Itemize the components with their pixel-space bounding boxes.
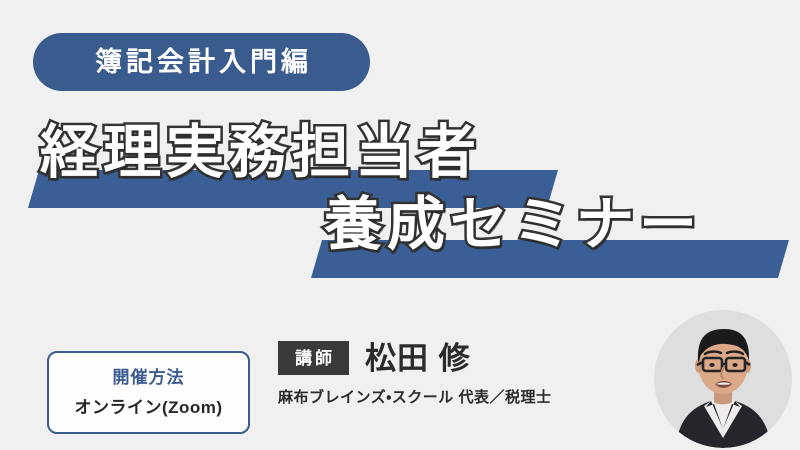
page-title-line-1: 経理実務担当者: [40, 124, 481, 182]
instructor-block: 講師 松田 修 麻布ブレインズ・スクール 代表／税理士: [278, 341, 551, 405]
seminar-banner: 簿記会計入門編 経理実務担当者 養成セミナー 開催方法 オンライン(Zoom) …: [0, 0, 800, 450]
instructor-tag: 講師: [278, 341, 349, 375]
delivery-method-value: オンライン(Zoom): [74, 399, 222, 416]
instructor-affiliation: 麻布ブレインズ・スクール 代表／税理士: [278, 390, 551, 405]
instructor-portrait: [654, 310, 792, 448]
category-badge: 簿記会計入門編: [33, 33, 370, 91]
page-title-line-2: 養成セミナー: [324, 196, 702, 254]
delivery-method-box: 開催方法 オンライン(Zoom): [47, 351, 250, 434]
portrait-illustration: [654, 310, 792, 448]
delivery-method-label: 開催方法: [113, 369, 185, 386]
category-badge-label: 簿記会計入門編: [91, 49, 312, 76]
instructor-name: 松田 修: [365, 343, 471, 374]
instructor-name-row: 講師 松田 修: [278, 341, 551, 375]
